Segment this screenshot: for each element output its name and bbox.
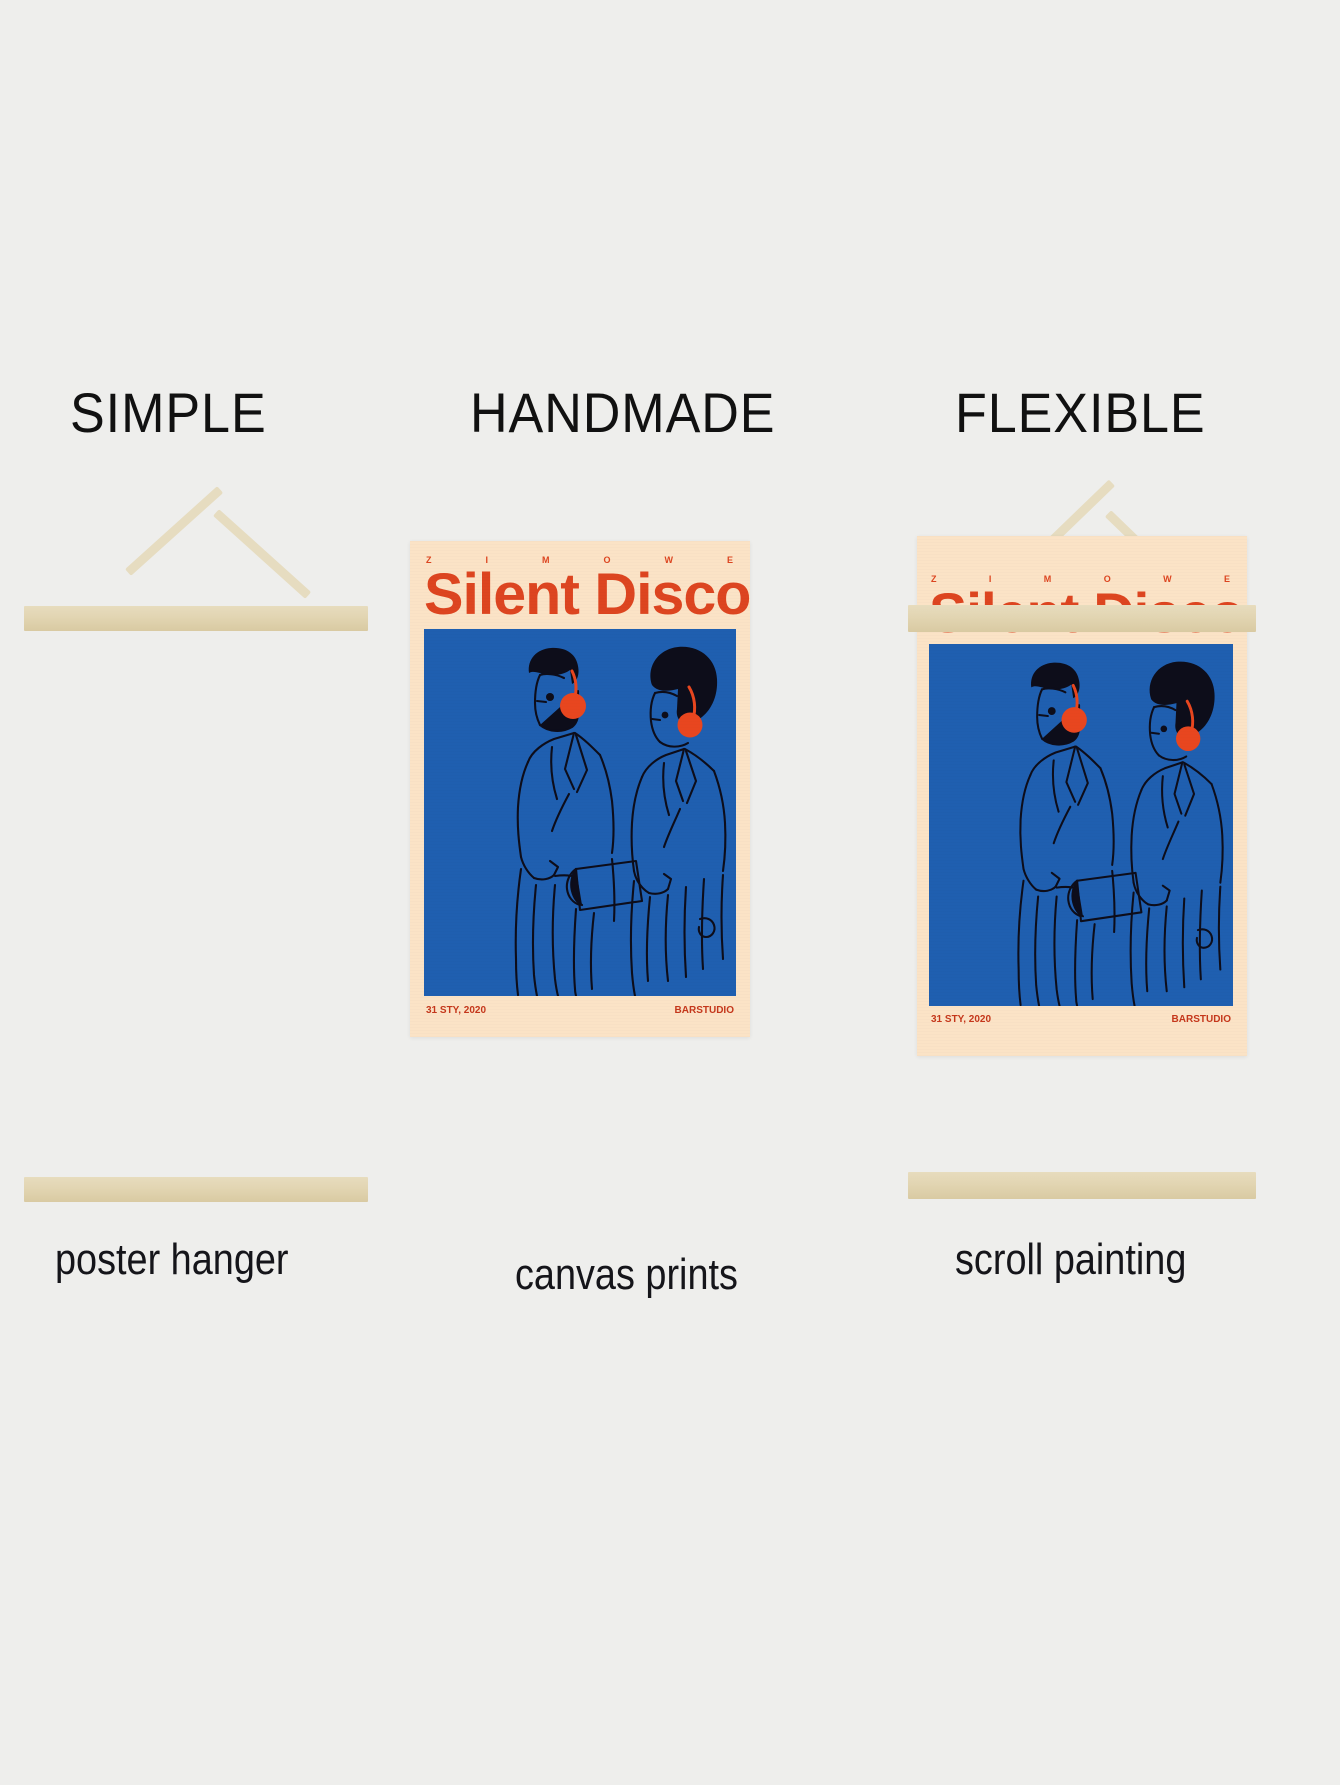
column-heading-flexible: FLEXIBLE bbox=[955, 380, 1206, 445]
poster-art-panel bbox=[424, 629, 736, 996]
silent-disco-figures-illustration bbox=[929, 644, 1233, 1006]
silent-disco-figures-illustration bbox=[424, 629, 736, 996]
poster-footer: 31 STY, 2020 BARSTUDIO bbox=[931, 1014, 1231, 1025]
caption-scroll-painting: scroll painting bbox=[955, 1235, 1186, 1285]
product-comparison-layout: SIMPLE HANDMADE FLEXIBLE Z I M O W E Sil… bbox=[0, 0, 1340, 1785]
poster-studio: BARSTUDIO bbox=[675, 1005, 734, 1016]
poster-date: 31 STY, 2020 bbox=[931, 1014, 991, 1025]
poster-title: Silent Disco bbox=[424, 561, 750, 628]
caption-poster-hanger: poster hanger bbox=[55, 1235, 289, 1285]
top-hanger-bar[interactable] bbox=[908, 605, 1256, 632]
hanging-cord-left bbox=[125, 486, 223, 576]
bottom-hanger-bar[interactable] bbox=[908, 1172, 1256, 1199]
poster-studio: BARSTUDIO bbox=[1172, 1014, 1231, 1025]
top-hanger-bar[interactable] bbox=[24, 606, 368, 631]
poster-footer: 31 STY, 2020 BARSTUDIO bbox=[426, 1005, 734, 1016]
poster-art-panel bbox=[929, 644, 1233, 1006]
hanging-cord-right bbox=[213, 509, 311, 599]
caption-canvas-prints: canvas prints bbox=[515, 1250, 738, 1300]
bottom-hanger-bar[interactable] bbox=[24, 1177, 368, 1202]
poster-artwork: Z I M O W E Silent Disco bbox=[410, 541, 750, 1037]
column-heading-simple: SIMPLE bbox=[70, 380, 267, 445]
column-heading-handmade: HANDMADE bbox=[470, 380, 775, 445]
canvas-print-poster[interactable]: Z I M O W E Silent Disco bbox=[410, 541, 750, 1037]
poster-date: 31 STY, 2020 bbox=[426, 1005, 486, 1016]
